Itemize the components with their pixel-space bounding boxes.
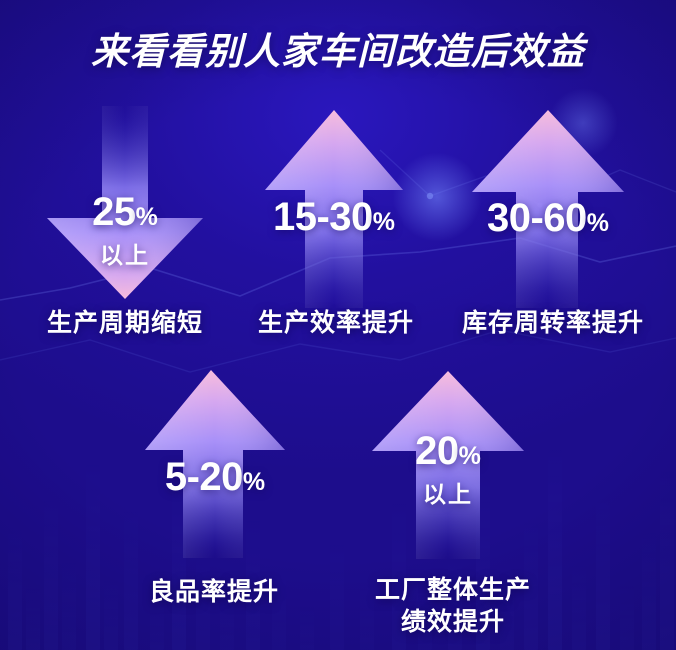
metric-number: 5-20 bbox=[165, 455, 243, 499]
background-bar-chart-pattern bbox=[0, 330, 676, 650]
page-title: 来看看别人家车间改造后效益 bbox=[0, 21, 676, 75]
metric-number: 15-30 bbox=[273, 195, 373, 239]
metric-subtext: 以上 bbox=[370, 475, 526, 509]
metric-production-cycle: 25% 以上 bbox=[45, 106, 205, 301]
metric-value: 5-20% bbox=[143, 455, 287, 500]
metric-overall-performance: 20% 以上 bbox=[370, 369, 526, 559]
metric-caption-yield-rate: 良品率提升 bbox=[128, 576, 300, 608]
infographic-canvas: 来看看别人家车间改造后效益 25% 以上 生产周期缩短 15-30% 生产效率提… bbox=[0, 0, 676, 650]
metric-caption-inventory-turnover: 库存周转率提升 bbox=[443, 307, 663, 339]
metric-number: 20 bbox=[415, 429, 459, 473]
metric-inventory-turnover: 30-60% bbox=[470, 108, 626, 308]
metric-production-efficiency: 15-30% bbox=[263, 108, 405, 308]
metric-number: 25 bbox=[92, 190, 136, 234]
metric-yield-rate: 5-20% bbox=[143, 368, 287, 558]
metric-unit: % bbox=[136, 203, 158, 231]
background-glow-dot bbox=[392, 152, 482, 242]
metric-value: 20% bbox=[370, 429, 526, 474]
metric-number: 30-60 bbox=[487, 196, 587, 240]
metric-unit: % bbox=[587, 209, 609, 237]
metric-unit: % bbox=[243, 468, 265, 496]
metric-unit: % bbox=[373, 208, 395, 236]
metric-caption-production-efficiency: 生产效率提升 bbox=[243, 307, 429, 339]
metric-value: 30-60% bbox=[470, 196, 626, 241]
metric-caption-overall-performance: 工厂整体生产 绩效提升 bbox=[363, 574, 543, 638]
metric-subtext: 以上 bbox=[45, 236, 205, 270]
metric-unit: % bbox=[459, 442, 481, 470]
metric-value: 15-30% bbox=[263, 195, 405, 240]
metric-value: 25% bbox=[45, 190, 205, 235]
metric-caption-production-cycle: 生产周期缩短 bbox=[25, 307, 225, 339]
